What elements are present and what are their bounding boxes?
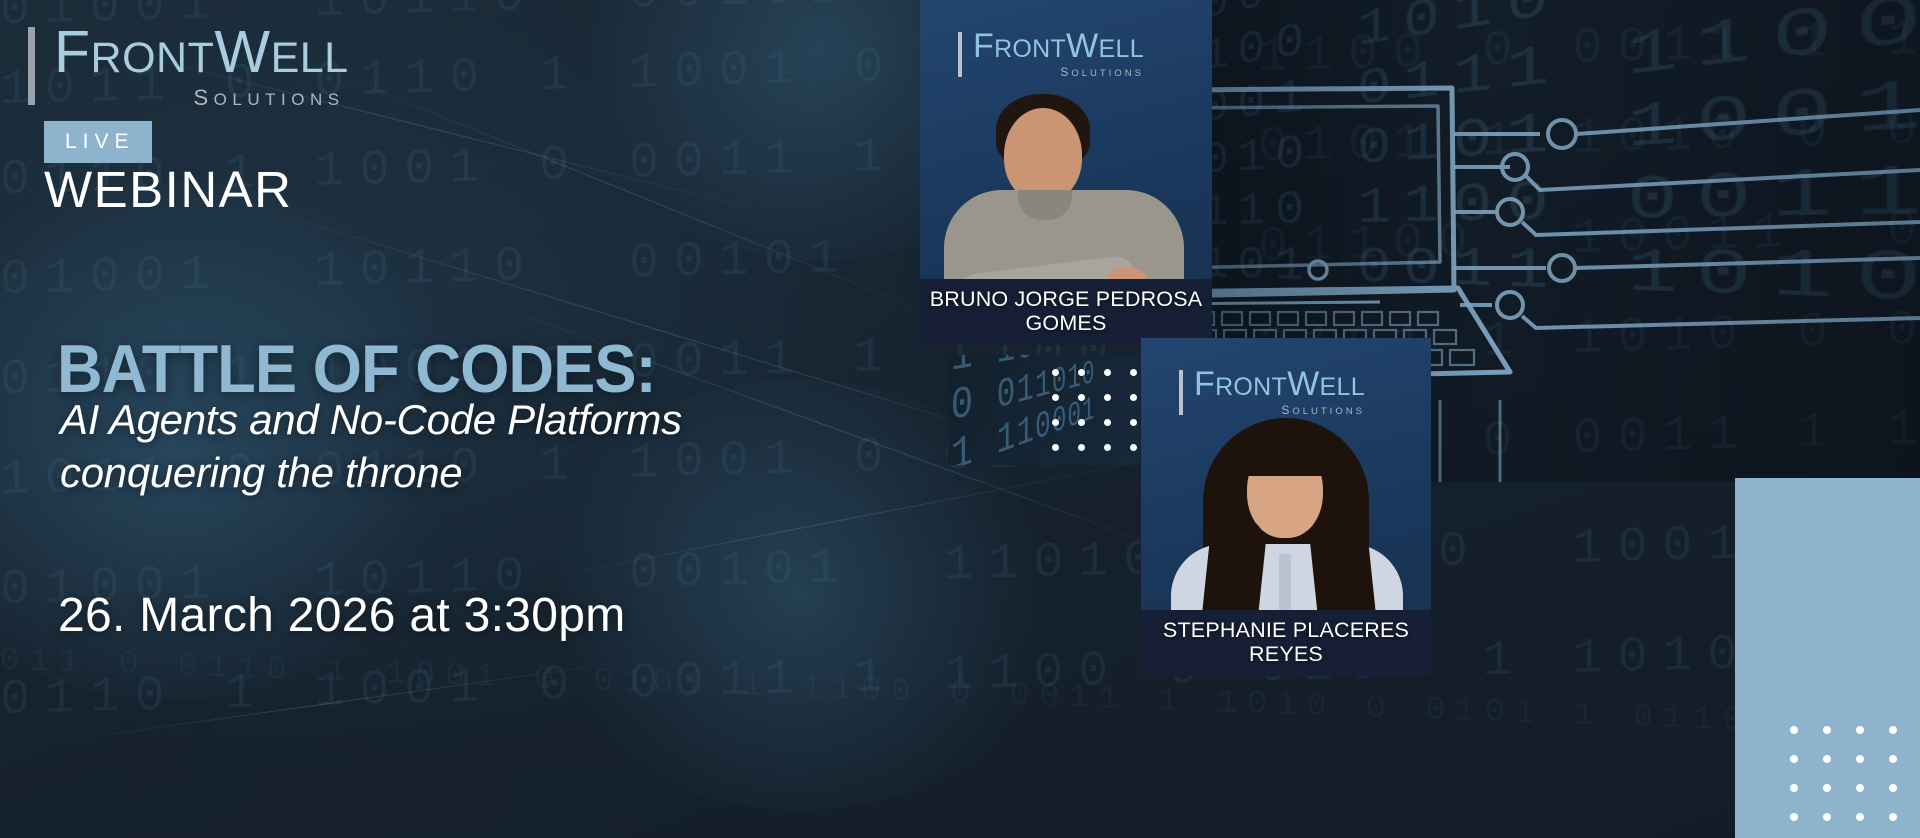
grid-dot	[1889, 813, 1897, 821]
grid-dot	[1823, 755, 1831, 763]
grid-dot	[1104, 444, 1111, 451]
event-type-label: WEBINAR	[44, 160, 293, 219]
grid-dot	[1790, 784, 1798, 792]
live-badge: LIVE	[44, 121, 152, 163]
logo-tagline: SOLUTIONS	[193, 85, 344, 111]
logo-bar-icon	[1179, 370, 1183, 415]
dot-grid-bottom-right	[1790, 726, 1920, 838]
grid-dot	[1889, 784, 1897, 792]
frontwell-logo: FRONTWELL SOLUTIONS	[28, 24, 349, 111]
speaker-name-line-2: REYES	[1147, 642, 1425, 666]
speaker-name-stephanie: STEPHANIE PLACERES REYES	[1141, 610, 1431, 676]
logo-text: FRONTWELL SOLUTIONS	[54, 24, 349, 111]
speaker-card-stephanie[interactable]: FRONTWELL SOLUTIONS STEPHANIE PLACERES R…	[1141, 338, 1431, 676]
grid-dot	[1856, 755, 1864, 763]
logo-bar-icon	[28, 27, 35, 105]
event-datetime: 26. March 2026 at 3:30pm	[58, 588, 626, 643]
speaker-name-line-1: BRUNO JORGE PEDROSA	[926, 287, 1206, 311]
grid-dot	[1889, 755, 1897, 763]
grid-dot	[1052, 394, 1059, 401]
card-logo-wordmark: FRONTWELL	[973, 30, 1144, 62]
card-logo-wordmark: FRONTWELL	[1194, 368, 1365, 400]
card-logo-stephanie: FRONTWELL SOLUTIONS	[1179, 368, 1365, 417]
grid-dot	[1856, 726, 1864, 734]
speaker-name-bruno: BRUNO JORGE PEDROSA GOMES	[920, 279, 1212, 345]
grid-dot	[1856, 813, 1864, 821]
grid-dot	[1052, 444, 1059, 451]
card-logo-tagline: SOLUTIONS	[1281, 403, 1365, 417]
grid-dot	[1104, 419, 1111, 426]
grid-dot	[1078, 444, 1085, 451]
speaker-name-line-1: STEPHANIE PLACERES	[1147, 618, 1425, 642]
grid-dot	[1052, 369, 1059, 376]
card-logo-bruno: FRONTWELL SOLUTIONS	[958, 30, 1144, 79]
grid-dot	[1790, 813, 1798, 821]
speaker-name-line-2: GOMES	[926, 311, 1206, 335]
grid-dot	[1078, 419, 1085, 426]
webinar-banner: 01001 10110 00101 11010 01100 10011 0101…	[0, 0, 1920, 838]
grid-dot	[1130, 444, 1137, 451]
grid-dot	[1104, 369, 1111, 376]
grid-dot	[1790, 755, 1798, 763]
grid-dot	[1823, 784, 1831, 792]
grid-dot	[1823, 813, 1831, 821]
logo-bar-icon	[958, 32, 962, 77]
grid-dot	[1078, 369, 1085, 376]
grid-dot	[1130, 369, 1137, 376]
page-subtitle: AI Agents and No-Code Platforms conqueri…	[60, 394, 682, 500]
grid-dot	[1889, 726, 1897, 734]
card-logo-tagline: SOLUTIONS	[1060, 65, 1144, 79]
grid-dot	[1856, 784, 1864, 792]
page-subtitle-line-2: conquering the throne	[60, 447, 682, 500]
page-subtitle-line-1: AI Agents and No-Code Platforms	[60, 394, 682, 447]
grid-dot	[1078, 394, 1085, 401]
head-shape	[1004, 108, 1082, 202]
logo-wordmark: FRONTWELL	[54, 24, 349, 80]
grid-dot	[1104, 394, 1111, 401]
speaker-card-bruno[interactable]: FRONTWELL SOLUTIONS BRUNO JORGE PEDROSA …	[920, 0, 1212, 345]
grid-dot	[1130, 394, 1137, 401]
grid-dot	[1790, 726, 1798, 734]
grid-dot	[1823, 726, 1831, 734]
grid-dot	[1130, 419, 1137, 426]
grid-dot	[1052, 419, 1059, 426]
